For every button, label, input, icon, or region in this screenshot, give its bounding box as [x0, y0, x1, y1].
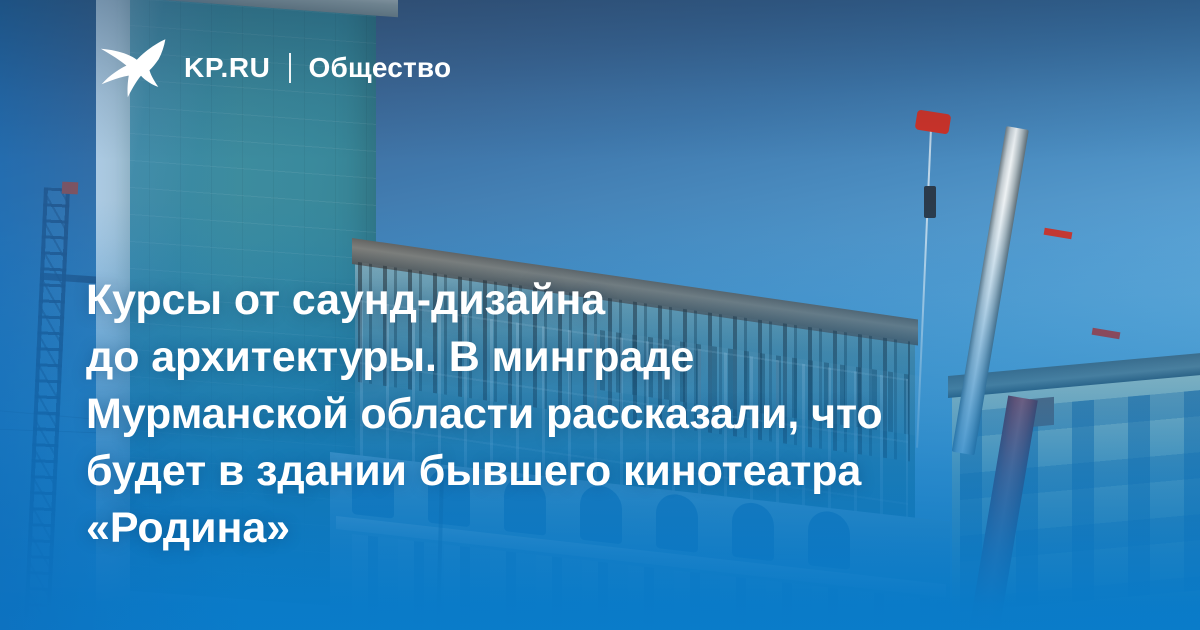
- headline-line-4: будет в здании бывшего кинотеатра: [86, 443, 1086, 500]
- article-headline: Курсы от саунд-дизайна до архитектуры. В…: [86, 272, 1086, 557]
- social-share-card: KP.RU Общество Курсы от саунд-дизайна до…: [0, 0, 1200, 630]
- swallow-bird-icon: [100, 38, 166, 98]
- headline-line-1: Курсы от саунд-дизайна: [86, 272, 1086, 329]
- headline-line-5: «Родина»: [86, 500, 1086, 557]
- header-divider: [289, 53, 291, 83]
- brand-name: KP.RU: [184, 54, 271, 82]
- headline-line-3: Мурманской области рассказали, что: [86, 386, 1086, 443]
- headline-line-2: до архитектуры. В минграде: [86, 329, 1086, 386]
- brand-header: KP.RU Общество: [100, 38, 451, 98]
- rubric-label: Общество: [309, 54, 452, 82]
